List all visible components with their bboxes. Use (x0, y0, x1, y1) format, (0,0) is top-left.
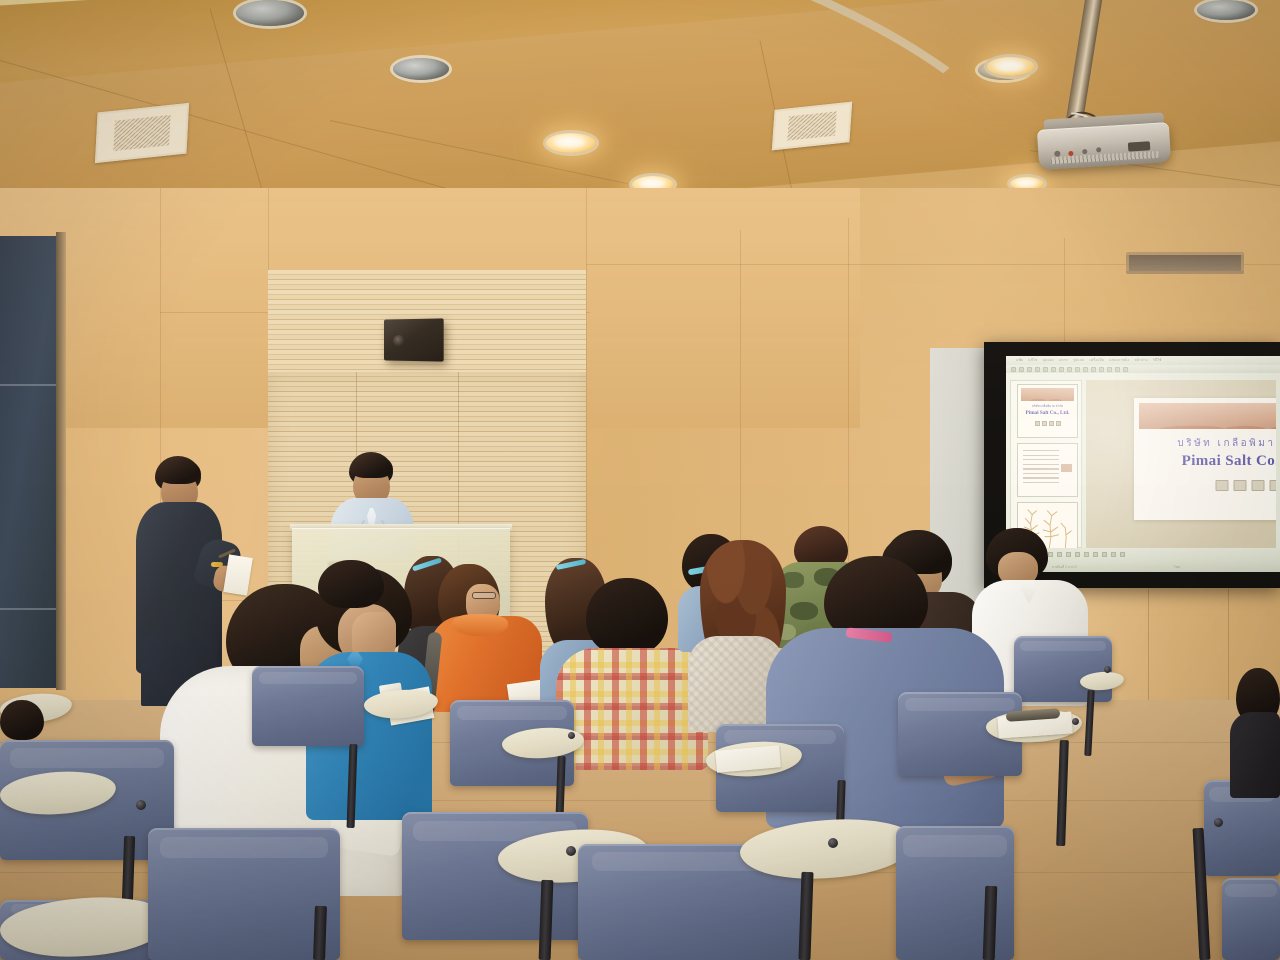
thumbnail-english-title: Pimai Salt Co., Ltd. (1018, 410, 1077, 416)
attendee-hair (586, 578, 668, 654)
chair-pivot (136, 800, 146, 810)
chair-pivot (1104, 666, 1111, 673)
draw-icon-oval[interactable] (1057, 552, 1062, 557)
chair-backrest[interactable] (1014, 636, 1112, 702)
toolbar-icon-italic[interactable] (1107, 367, 1112, 372)
toolbar-icon-underline[interactable] (1115, 367, 1120, 372)
menu-item-slideshow[interactable]: แสดงภาพนิ่ง (1109, 358, 1129, 363)
thumbnail-header-image (1021, 388, 1074, 401)
slide-thumbnail-2[interactable] (1017, 443, 1078, 497)
toolbar-icon-bold[interactable] (1099, 367, 1104, 372)
chair-pivot (566, 846, 576, 856)
menu-item-insert[interactable]: แทรก (1059, 358, 1068, 363)
menu-item-tools[interactable]: เครื่องมือ (1089, 358, 1104, 363)
attendee-hair (0, 700, 44, 740)
projector (1037, 122, 1171, 170)
acoustic-wall-panel (0, 236, 56, 688)
toolbar-icon-copy[interactable] (1067, 367, 1072, 372)
chair-leg (983, 886, 998, 960)
downlight-lit (987, 57, 1035, 76)
presenter-bracelet (211, 562, 223, 567)
chair-pivot (568, 732, 575, 739)
draw-icon-wordart[interactable] (1075, 552, 1080, 557)
attendee-dark-top (1230, 712, 1280, 798)
toolbar-icon-print[interactable] (1035, 367, 1040, 372)
menu-item-help[interactable]: วิธีใช้ (1153, 358, 1162, 363)
draw-icon-line-color[interactable] (1093, 552, 1098, 557)
powerpoint-menu-bar[interactable]: แฟ้ม แก้ไข มุมมอง แทรก รูปแบบ เครื่องมือ… (1006, 356, 1280, 365)
menu-item-view[interactable]: มุมมอง (1042, 358, 1053, 363)
attendee-hair (318, 560, 384, 608)
presenter-hair-front (157, 458, 201, 484)
projection-screen[interactable]: แฟ้ม แก้ไข มุมมอง แทรก รูปแบบ เครื่องมือ… (1006, 356, 1280, 572)
attendee-plaid-top (556, 648, 708, 770)
toolbar-icon-redo[interactable] (1091, 367, 1096, 372)
status-slide-counter: ภาพนิ่งที่ 1 จาก 3 (1052, 565, 1076, 570)
downlight-unlit (393, 58, 449, 80)
toolbar-icon-preview[interactable] (1043, 367, 1048, 372)
slide-english-title: Pimai Salt Co., Ltd. (1134, 453, 1276, 470)
current-slide[interactable]: บริษัท เกลือพิมาย จำกัด Pimai Salt Co., … (1134, 398, 1276, 520)
wall-speaker (384, 318, 444, 361)
draw-icon-rectangle[interactable] (1048, 552, 1053, 557)
cabinet-door-seam (1148, 589, 1149, 707)
chair-backrest[interactable] (148, 828, 340, 960)
draw-icon-textbox[interactable] (1066, 552, 1071, 557)
chair-leg (313, 906, 327, 960)
slide-thumbnail-panel[interactable]: บริษัท เกลือพิมาย จำกัด Pimai Salt Co., … (1010, 380, 1082, 548)
downlight-unlit (236, 0, 304, 26)
thumbnail-thai-title: บริษัท เกลือพิมาย จำกัด (1018, 404, 1077, 409)
ceiling-air-diffuser (772, 102, 852, 151)
toolbar-icon-open[interactable] (1019, 367, 1024, 372)
downlight-unlit (1197, 0, 1255, 20)
menu-item-window[interactable]: หน้าต่าง (1134, 358, 1147, 363)
toolbar-icon-paste[interactable] (1075, 367, 1080, 372)
menu-item-file[interactable]: แฟ้ม (1016, 358, 1023, 363)
toolbar-icon-new[interactable] (1011, 367, 1016, 372)
powerpoint-toolbar[interactable] (1006, 365, 1280, 373)
thumbnail-logo-row (1035, 421, 1061, 426)
menu-item-format[interactable]: รูปแบบ (1073, 358, 1084, 363)
chair-backrest[interactable] (252, 666, 364, 746)
attendee-hood (452, 614, 508, 636)
menu-item-edit[interactable]: แก้ไข (1028, 358, 1037, 363)
toolbar-icon-undo[interactable] (1083, 367, 1088, 372)
cabinet-door-seam (1228, 589, 1229, 707)
conference-room-photo: แฟ้ม แก้ไข มุมมอง แทรก รูปแบบ เครื่องมือ… (0, 0, 1280, 960)
draw-icon-shadow[interactable] (1111, 552, 1116, 557)
attendee-eyeglasses (472, 592, 496, 599)
slide-edit-stage[interactable]: บริษัท เกลือพิมาย จำกัด Pimai Salt Co., … (1086, 380, 1276, 548)
draw-icon-3d[interactable] (1120, 552, 1125, 557)
toolbar-icon-spell[interactable] (1051, 367, 1056, 372)
downlight-lit (546, 133, 596, 153)
thumbnail-inline-image (1061, 464, 1072, 472)
slide-header-image (1139, 403, 1276, 429)
draw-icon-font-color[interactable] (1102, 552, 1107, 557)
toolbar-icon-cut[interactable] (1059, 367, 1064, 372)
slide-certification-logos (1216, 480, 1277, 491)
status-language: ไทย (1174, 565, 1180, 570)
slide-thai-title: บริษัท เกลือพิมาย จำกัด (1134, 436, 1276, 451)
toolbar-icon-save[interactable] (1027, 367, 1032, 372)
slide-thumbnail-1[interactable]: บริษัท เกลือพิมาย จำกัด Pimai Salt Co., … (1017, 384, 1078, 438)
chair-pivot (1214, 818, 1223, 827)
chair-pivot (1072, 718, 1079, 725)
chair-pivot (828, 838, 838, 848)
wall-air-grille (1126, 252, 1244, 274)
toolbar-icon-align[interactable] (1123, 367, 1128, 372)
draw-icon-fill-color[interactable] (1084, 552, 1089, 557)
chair-backrest[interactable] (1222, 878, 1280, 960)
ceiling-air-diffuser (95, 103, 189, 163)
thumbnail-bullet-lines (1023, 450, 1059, 487)
wall-panel-edge (56, 232, 66, 690)
presenter2-hair-front (350, 454, 393, 478)
